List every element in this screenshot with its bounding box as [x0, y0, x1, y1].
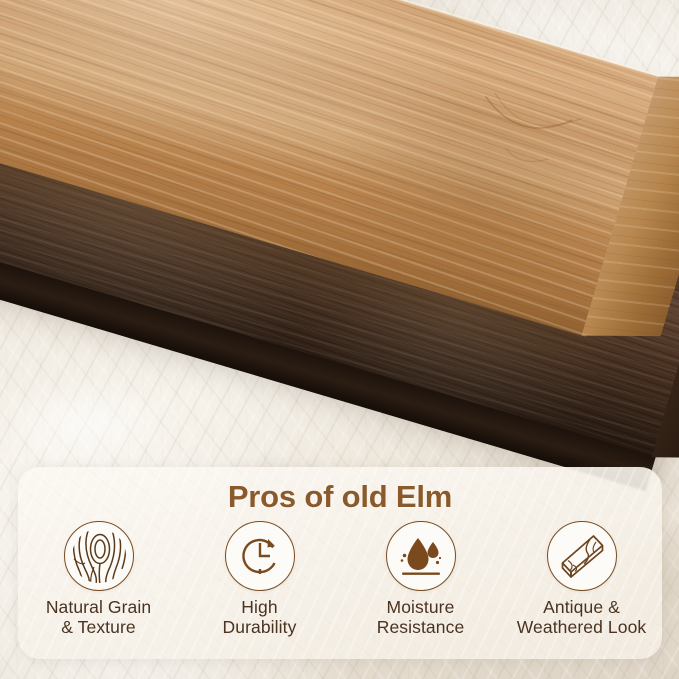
- wood-grain-icon: [64, 521, 134, 591]
- pros-info-panel: Pros of old Elm: [18, 467, 662, 659]
- feature-label: Natural Grain & Texture: [46, 597, 151, 637]
- feature-label: Moisture Resistance: [377, 597, 465, 637]
- wood-plank-icon: [547, 521, 617, 591]
- panel-title: Pros of old Elm: [18, 479, 662, 515]
- feature-high-durability: High Durability: [179, 521, 340, 637]
- feature-antique-look: Antique & Weathered Look: [501, 521, 662, 637]
- feature-moisture-resistance: Moisture Resistance: [340, 521, 501, 637]
- feature-list: Natural Grain & Texture: [18, 521, 662, 637]
- product-image: Pros of old Elm: [0, 0, 679, 679]
- clock-refresh-icon: [225, 521, 295, 591]
- feature-label: Antique & Weathered Look: [517, 597, 647, 637]
- plank-grain-mark: [456, 87, 616, 213]
- water-droplet-icon: [386, 521, 456, 591]
- feature-label: High Durability: [223, 597, 297, 637]
- feature-natural-grain: Natural Grain & Texture: [18, 521, 179, 637]
